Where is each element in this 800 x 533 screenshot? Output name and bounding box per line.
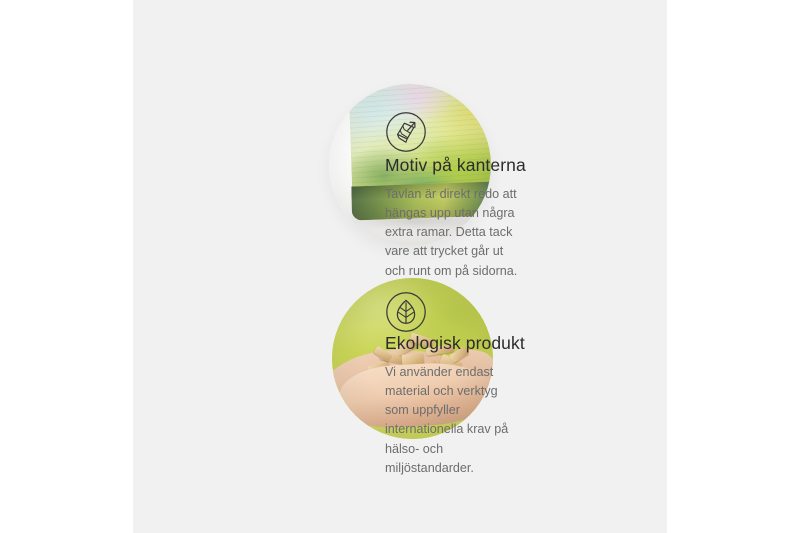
feature-title: Motiv på kanterna (385, 155, 526, 176)
leaf-icon (385, 291, 427, 333)
feature-title: Ekologisk produkt (385, 333, 525, 354)
content-canvas: Motiv på kanterna Tavlan är direkt redo … (133, 0, 667, 533)
feature-text-motiv-pa-kanterna: Motiv på kanterna Tavlan är direkt redo … (385, 155, 526, 281)
product-info-page: Motiv på kanterna Tavlan är direkt redo … (0, 0, 800, 533)
feature-text-ekologisk-produkt: Ekologisk produkt Vi använder endast mat… (385, 333, 525, 478)
canvas-wrap-edge-icon (385, 111, 427, 153)
feature-description: Vi använder endast material och verktyg … (385, 363, 525, 478)
feature-description: Tavlan är direkt redo att hängas upp uta… (385, 185, 526, 281)
